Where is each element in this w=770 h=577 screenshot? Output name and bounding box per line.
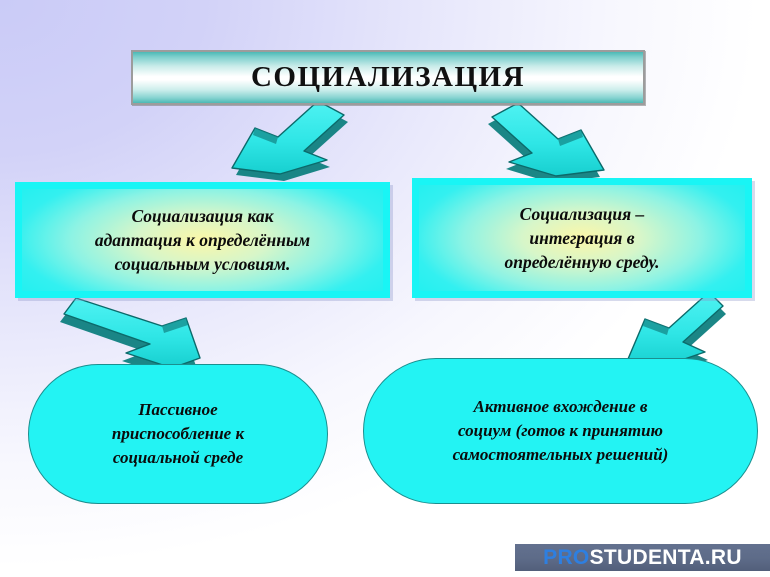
title-text: СОЦИАЛИЗАЦИЯ xyxy=(251,61,525,94)
arrow-down-left-title-to-left-box xyxy=(232,101,348,181)
watermark-prefix: PRO xyxy=(543,546,589,569)
slide-canvas: СОЦИАЛИЗАЦИЯ Социализация как адаптация … xyxy=(0,0,770,577)
line: Социализация как xyxy=(95,204,310,228)
line: Социализация – xyxy=(504,202,659,226)
outcome-oval-active-text: Активное вхождение в социум (готов к при… xyxy=(435,395,687,467)
line: адаптация к определённым xyxy=(95,228,310,252)
outcome-oval-passive: Пассивное приспособление к социальной ср… xyxy=(28,364,328,504)
outcome-oval-passive-text: Пассивное приспособление к социальной ср… xyxy=(94,398,262,470)
arrow-down-right-title-to-right-box xyxy=(488,103,604,183)
concept-box-integration: Социализация – интеграция в определённую… xyxy=(412,178,752,298)
line: Активное вхождение в xyxy=(453,395,669,419)
line: самостоятельных решений) xyxy=(453,443,669,467)
line: определённую среду. xyxy=(504,250,659,274)
line: Пассивное xyxy=(112,398,244,422)
line: социум (готов к принятию xyxy=(453,419,669,443)
watermark-text: PROSTUDENTA.RU xyxy=(543,546,742,570)
watermark-banner: PROSTUDENTA.RU xyxy=(515,544,770,571)
line: интеграция в xyxy=(504,226,659,250)
concept-box-adaptation-text: Социализация как адаптация к определённы… xyxy=(89,204,316,276)
title-box: СОЦИАЛИЗАЦИЯ xyxy=(131,50,645,105)
line: приспособление к xyxy=(112,422,244,446)
line: социальным условиям. xyxy=(95,252,310,276)
concept-box-integration-text: Социализация – интеграция в определённую… xyxy=(498,202,665,274)
concept-box-adaptation: Социализация как адаптация к определённы… xyxy=(15,182,390,298)
outcome-oval-active: Активное вхождение в социум (готов к при… xyxy=(363,358,758,504)
line: социальной среде xyxy=(112,446,244,470)
watermark-suffix: STUDENTA.RU xyxy=(590,546,742,569)
